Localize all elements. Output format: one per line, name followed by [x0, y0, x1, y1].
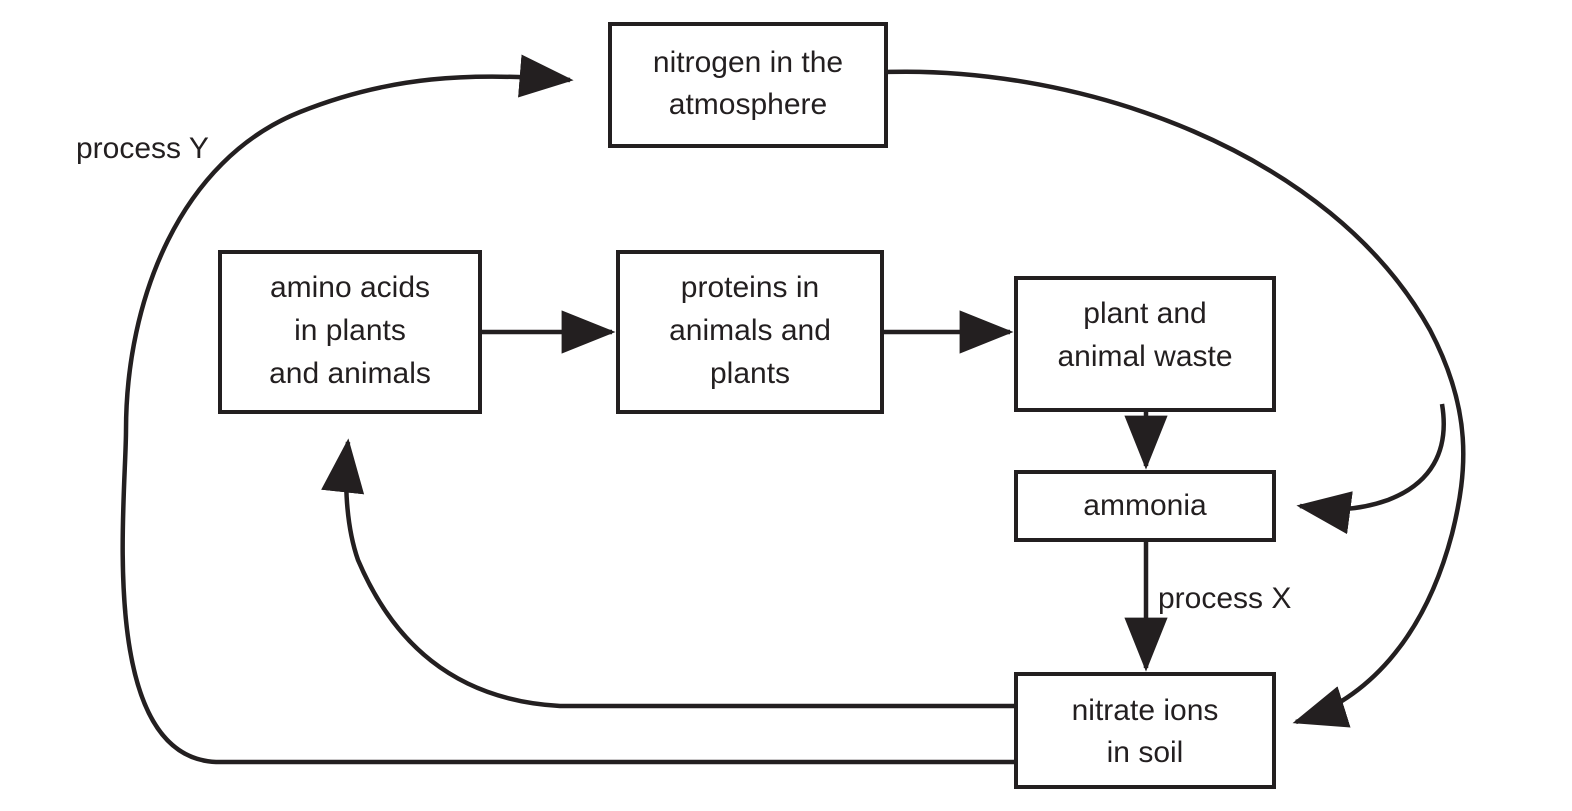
edge-nitrogen-atmosphere-to-ammonia: [1300, 404, 1444, 509]
process-x-label: process X: [1158, 582, 1291, 615]
node-label-line: ammonia: [1083, 489, 1207, 522]
edge-nitrate-ions-to-amino-acids: [346, 442, 1016, 706]
nitrate-ions-in-soil-box[interactable]: nitrate ions in soil: [1016, 674, 1274, 787]
node-label-line: nitrate ions: [1072, 694, 1219, 727]
node-label-line: plant and: [1083, 297, 1206, 330]
process-y-label: process Y: [76, 132, 209, 165]
node-label-line: animals and: [669, 314, 831, 347]
node-label-line: atmosphere: [669, 88, 827, 121]
node-label-line: proteins in: [681, 271, 819, 304]
plant-and-animal-waste-box[interactable]: plant and animal waste: [1016, 278, 1274, 410]
node-label-line: and animals: [269, 357, 431, 390]
nitrogen-in-the-atmosphere-box[interactable]: nitrogen in the atmosphere: [610, 24, 886, 146]
node-label-line: nitrogen in the: [653, 46, 843, 79]
diagram-canvas: nitrogen in the atmosphere amino acids i…: [0, 0, 1572, 811]
amino-acids-in-plants-and-animals-box[interactable]: amino acids in plants and animals: [220, 252, 480, 412]
node-label-line: plants: [710, 357, 790, 390]
node-label-line: animal waste: [1057, 340, 1232, 373]
edge-nitrate-ions-to-nitrogen-atmosphere: [123, 77, 1016, 762]
node-label-line: in plants: [294, 314, 406, 347]
ammonia-box[interactable]: ammonia: [1016, 472, 1274, 540]
node-label-line: amino acids: [270, 271, 430, 304]
node-label-line: in soil: [1107, 736, 1184, 769]
nitrogen-cycle-diagram: nitrogen in the atmosphere amino acids i…: [0, 0, 1572, 811]
proteins-in-animals-and-plants-box[interactable]: proteins in animals and plants: [618, 252, 882, 412]
